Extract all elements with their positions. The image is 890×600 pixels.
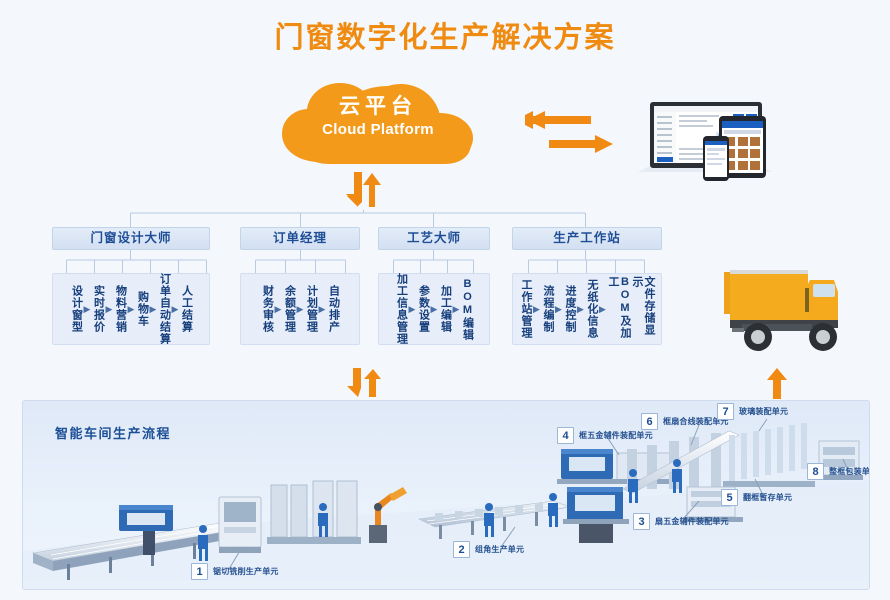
callout-label: 整框包装单元: [829, 466, 870, 477]
callout-number: 6: [641, 413, 658, 430]
callout-label: 锯切铣削生产单元: [213, 566, 279, 577]
flow-arrow-icon: ▶: [318, 276, 327, 342]
delivery-truck: [712, 258, 862, 363]
module-item[interactable]: 订单自动结算: [158, 276, 171, 342]
flow-arrow-icon: ▶: [430, 276, 439, 342]
module-header-0[interactable]: 门窗设计大师: [52, 227, 210, 250]
callout-1[interactable]: 1 锯切铣削生产单元: [191, 563, 279, 580]
flow-arrow-icon: ▶: [532, 276, 541, 342]
module-item[interactable]: 流程编制: [541, 276, 554, 342]
flow-arrow-icon: ▶: [274, 276, 283, 342]
module-items-2: 加工信息管理 ▶ 参数设置 ▶ 加工编辑 ▶ BOM编辑: [378, 273, 490, 345]
workshop-panel: 智能车间生产流程: [22, 400, 870, 590]
module-item[interactable]: 购物车: [136, 276, 149, 342]
flow-arrow-icon: ▶: [408, 276, 417, 342]
callout-number: 4: [557, 427, 574, 444]
callout-label: 玻璃装配单元: [739, 406, 788, 417]
flow-arrow-icon: ▶: [171, 276, 180, 342]
cloud-platform-node: 云平台 Cloud Platform: [268, 78, 488, 170]
callout-8[interactable]: 8 整框包装单元: [807, 463, 870, 480]
shop-to-truck-arrow-icon: [767, 368, 789, 400]
module-item[interactable]: 加工编辑: [439, 276, 452, 342]
module-item[interactable]: 物料营销: [114, 276, 127, 342]
cloud-label-cn: 云平台: [268, 94, 488, 120]
callout-5[interactable]: 5 翻框暂存单元: [721, 489, 792, 506]
flow-arrow-icon: ▶: [127, 276, 136, 342]
flow-arrow-icon: ▶: [576, 276, 585, 342]
module-header-2[interactable]: 工艺大师: [378, 227, 490, 250]
callout-label: 框五金辅件装配单元: [579, 430, 653, 441]
flow-arrow-icon: ▶: [149, 276, 158, 342]
module-group-3[interactable]: 生产工作站 工作站管理 ▶ 流程编制 ▶ 进度控制 ▶ 无纸化信息 ▶ 文件存储…: [512, 227, 662, 345]
module-item[interactable]: 实时报价: [92, 276, 105, 342]
callout-label: 扇五金辅件装配单元: [655, 516, 729, 527]
flow-arrow-icon: ▶: [452, 276, 461, 342]
module-items-3: 工作站管理 ▶ 流程编制 ▶ 进度控制 ▶ 无纸化信息 ▶ 文件存储显示 BOM…: [512, 273, 662, 345]
module-item[interactable]: BOM编辑: [461, 276, 474, 342]
flow-arrow-icon: ▶: [105, 276, 114, 342]
module-items-0: 设计窗型 ▶ 实时报价 ▶ 物料营销 ▶ 购物车 ▶ 订单自动结算 ▶ 人工结算: [52, 273, 210, 345]
cloud-label: 云平台 Cloud Platform: [268, 94, 488, 140]
module-item-line-1: 文件存储显示: [631, 276, 655, 342]
callout-label: 组角生产单元: [475, 544, 524, 555]
module-group-1[interactable]: 订单经理 财务审核 ▶ 余额管理 ▶ 计划管理 ▶ 自动排产: [240, 227, 360, 345]
sync-arrows-icon: [525, 110, 615, 156]
callout-3[interactable]: 3 扇五金辅件装配单元: [633, 513, 729, 530]
flow-arrow-icon: ▶: [598, 276, 607, 342]
truck-icon: [712, 258, 862, 363]
page-title: 门窗数字化生产解决方案: [0, 14, 890, 56]
module-item[interactable]: 人工结算: [180, 276, 193, 342]
module-group-0[interactable]: 门窗设计大师 设计窗型 ▶ 实时报价 ▶ 物料营销 ▶ 购物车 ▶ 订单自动结算…: [52, 227, 210, 345]
module-items-1: 财务审核 ▶ 余额管理 ▶ 计划管理 ▶ 自动排产: [240, 273, 360, 345]
module-item[interactable]: 计划管理: [305, 276, 318, 342]
callout-number: 2: [453, 541, 470, 558]
module-group-2[interactable]: 工艺大师 加工信息管理 ▶ 参数设置 ▶ 加工编辑 ▶ BOM编辑: [378, 227, 490, 345]
callout-number: 3: [633, 513, 650, 530]
module-item[interactable]: 参数设置: [417, 276, 430, 342]
module-header-3[interactable]: 生产工作站: [512, 227, 662, 250]
devices-icon: [630, 88, 805, 183]
solution-diagram: 门窗数字化生产解决方案 云平台 Cloud Platform: [0, 0, 890, 600]
flow-arrow-icon: ▶: [83, 276, 92, 342]
module-item-multiline[interactable]: 文件存储显示 BOM及加工: [607, 276, 655, 342]
module-header-1[interactable]: 订单经理: [240, 227, 360, 250]
callout-label: 翻框暂存单元: [743, 492, 792, 503]
flow-arrow-icon: ▶: [296, 276, 305, 342]
modules-down-up-arrows-icon: [345, 368, 383, 398]
callout-number: 5: [721, 489, 738, 506]
cloud-label-en: Cloud Platform: [268, 120, 488, 140]
device-mockup: [630, 88, 805, 183]
module-item[interactable]: 自动排产: [327, 276, 340, 342]
module-item[interactable]: 财务审核: [261, 276, 274, 342]
callout-6[interactable]: 6 框扇合线装配单元: [641, 413, 729, 430]
module-item[interactable]: 设计窗型: [70, 276, 83, 342]
callout-number: 1: [191, 563, 208, 580]
callout-number: 7: [717, 403, 734, 420]
callout-number: 8: [807, 463, 824, 480]
callout-4[interactable]: 4 框五金辅件装配单元: [557, 427, 653, 444]
callout-7[interactable]: 7 玻璃装配单元: [717, 403, 788, 420]
module-item-line-2: BOM及加工: [607, 276, 631, 342]
module-item[interactable]: 无纸化信息: [585, 276, 598, 342]
callout-2[interactable]: 2 组角生产单元: [453, 541, 524, 558]
flow-arrow-icon: ▶: [554, 276, 563, 342]
module-item[interactable]: 进度控制: [563, 276, 576, 342]
module-item[interactable]: 加工信息管理: [395, 276, 408, 342]
module-item[interactable]: 余额管理: [283, 276, 296, 342]
module-item[interactable]: 工作站管理: [519, 276, 532, 342]
